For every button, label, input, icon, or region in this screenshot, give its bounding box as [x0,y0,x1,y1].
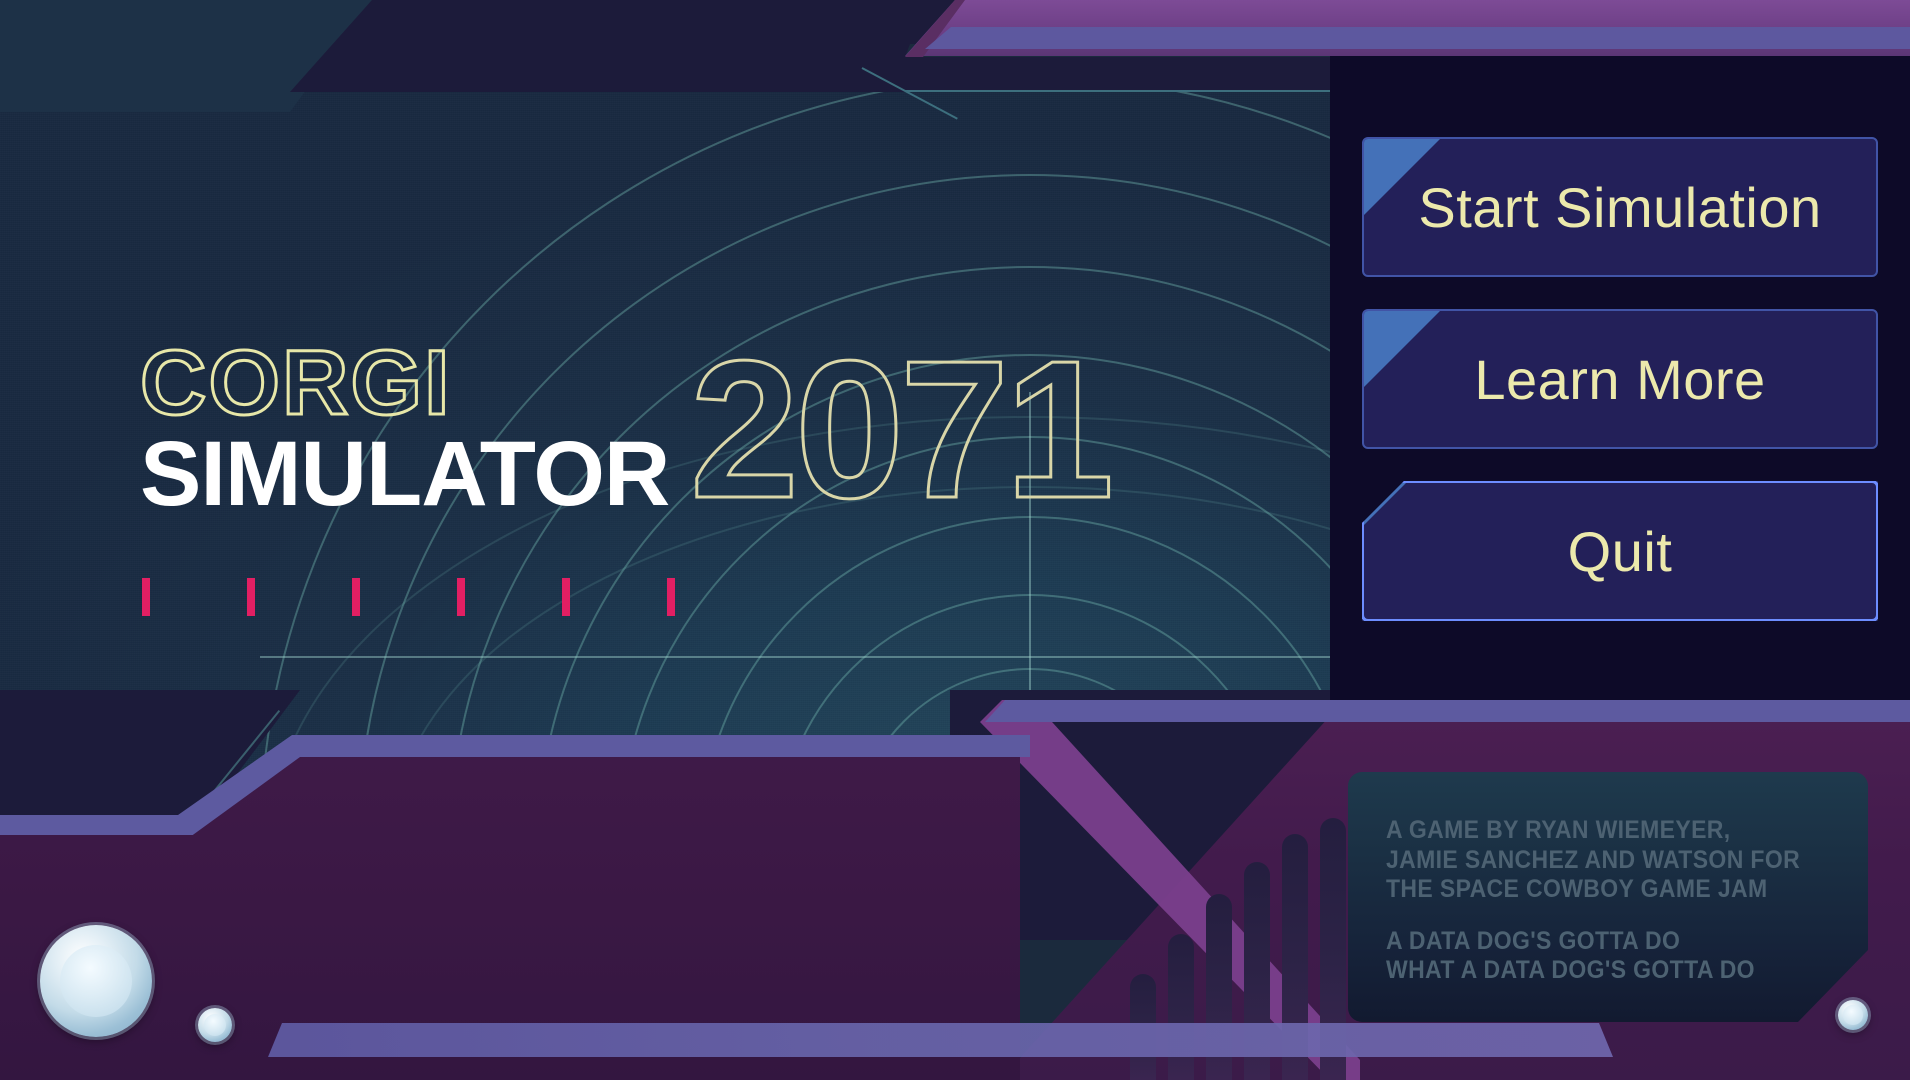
game-logo: CORGI SIMULATOR [140,340,669,519]
start-simulation-button[interactable]: Start Simulation [1362,137,1878,277]
credits-line-2: JAMIE SANCHEZ AND WATSON FOR [1386,846,1829,876]
button-corner-icon [1363,310,1441,388]
credits-line-1: A GAME BY RYAN WIEMEYER, [1386,816,1829,846]
tick-mark [352,578,360,616]
slot-bar [1168,934,1194,1080]
tick-mark [457,578,465,616]
credits-tagline-2: WHAT A DATA DOG'S GOTTA DO [1386,956,1829,986]
start-simulation-label: Start Simulation [1418,175,1821,240]
tick-mark [247,578,255,616]
learn-more-button[interactable]: Learn More [1362,309,1878,449]
credits-tagline-1: A DATA DOG'S GOTTA DO [1386,927,1829,957]
quit-button[interactable]: Quit [1362,481,1878,621]
credits-spacer [1386,905,1868,927]
knob-indicator-icon[interactable] [198,1008,232,1042]
logo-year: 2071 [690,332,1110,528]
logo-tick-marks [142,578,682,616]
knob-dial-icon[interactable] [40,925,152,1037]
tick-mark [562,578,570,616]
button-corner-icon [1363,482,1407,526]
logo-line-corgi: CORGI [140,340,669,427]
credits-line-3: THE SPACE COWBOY GAME JAM [1386,875,1829,905]
quit-label: Quit [1568,519,1673,584]
main-menu: Start Simulation Learn More Quit [1362,137,1878,621]
credits-card: A GAME BY RYAN WIEMEYER, JAMIE SANCHEZ A… [1348,772,1868,1022]
game-title-screen: CORGI SIMULATOR 2071 Start Simulation Le… [0,0,1910,1080]
knob-indicator-icon[interactable] [1838,1000,1868,1030]
logo-line-simulator: SIMULATOR [140,431,669,518]
top-purple-band-highlight [925,27,1910,49]
bottom-light-bar [268,1023,1613,1057]
tick-mark [667,578,675,616]
tick-mark [142,578,150,616]
hairline-top [905,90,1330,92]
learn-more-label: Learn More [1474,347,1765,412]
